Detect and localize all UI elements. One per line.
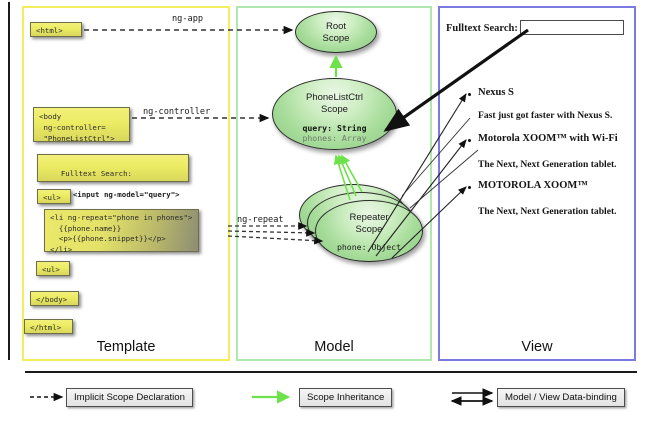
view-item-bullet: [468, 139, 471, 142]
scope-phonelist-prop-phones: phones: Array: [273, 133, 396, 143]
view-item-title: Motorola XOOM™ with Wi-Fi: [478, 133, 618, 144]
view-item-snippet: Fast just got faster with Nexus S.: [478, 110, 612, 121]
edge-label-ng-app: ng-app: [172, 14, 203, 24]
code-block-li-repeat: <li ng-repeat="phone in phones"> {{phone…: [44, 209, 199, 252]
code-search-label: Fulltext Search:: [61, 169, 132, 178]
code-block-fulltext-search: Fulltext Search: <input ng-model="query"…: [37, 154, 189, 182]
code-search-input: <input ng-model="query">: [73, 190, 180, 199]
view-item-bullet: [468, 93, 471, 96]
code-block-html-close: </html>: [24, 319, 73, 334]
view-search-input[interactable]: [520, 20, 624, 35]
scope-phonelistctrl: PhoneListCtrl Scope query: String phones…: [272, 78, 397, 150]
panel-view-label: View: [440, 339, 634, 355]
edge-label-ng-repeat: ng-repeat: [237, 215, 284, 225]
code-block-ul-close: <ul>: [36, 261, 70, 276]
scope-phonelist-title-2: Scope: [321, 104, 348, 115]
view-item-snippet: The Next, Next Generation tablet.: [478, 206, 617, 217]
view-search-label: Fulltext Search:: [446, 23, 518, 34]
view-item-bullet: [468, 186, 471, 189]
scope-root: Root Scope: [295, 11, 377, 53]
scope-root-title-2: Scope: [323, 33, 350, 44]
code-block-ul-open: <ul>: [37, 189, 71, 204]
panel-model: Model: [236, 6, 432, 361]
edge-label-ng-controller: ng-controller: [143, 107, 210, 117]
scope-repeater: Repeater Scope phone: Object: [315, 200, 423, 262]
scope-root-title-1: Root: [326, 21, 346, 32]
legend-model-view-data-binding: Model / View Data-binding: [497, 388, 625, 407]
scope-phonelist-title-1: PhoneListCtrl: [306, 92, 363, 103]
code-block-body-close: </body>: [30, 291, 79, 306]
frame-bottom-line: [25, 371, 637, 373]
panel-model-label: Model: [238, 339, 430, 355]
scope-repeater-prop-phone: phone: Object: [337, 242, 401, 252]
code-block-body-open: <body ng-controller= "PhoneListCtrl">: [33, 107, 130, 142]
angularjs-architecture-diagram: Template Model View <html> <body ng-cont…: [0, 0, 645, 425]
view-item-title: Nexus S: [478, 87, 514, 98]
scope-repeater-title-1: Repeater: [349, 212, 388, 223]
view-item-snippet: The Next, Next Generation tablet.: [478, 159, 617, 170]
panel-template-label: Template: [24, 339, 228, 355]
scope-repeater-title-2: Scope: [356, 224, 383, 235]
legend-implicit-scope-declaration: Implicit Scope Declaration: [66, 388, 193, 407]
legend-scope-inheritance: Scope Inheritance: [299, 388, 392, 407]
code-block-html-open: <html>: [30, 22, 82, 37]
frame-left-line: [8, 2, 10, 360]
scope-phonelist-prop-query: query: String: [273, 123, 396, 133]
view-item-title: MOTOROLA XOOM™: [478, 180, 588, 191]
panel-template: Template: [22, 6, 230, 361]
